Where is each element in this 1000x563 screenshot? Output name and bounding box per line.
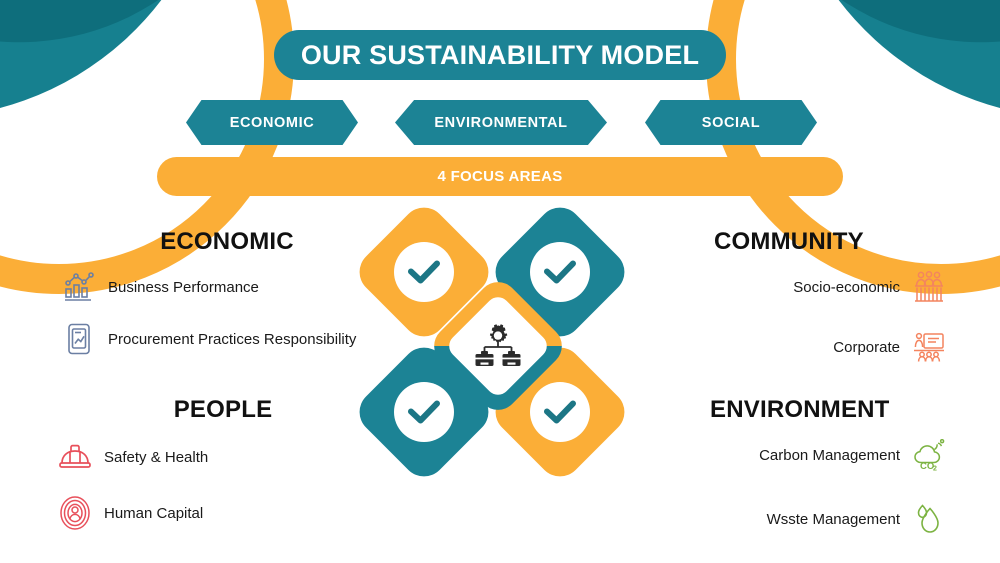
list-item[interactable]: Carbon Management CO 2	[700, 436, 946, 474]
quadrant-people: PEOPLE Safety & Health	[58, 396, 358, 550]
pillar-chevron-economic[interactable]: ECONOMIC	[186, 100, 358, 145]
bar-chart-growth-icon	[62, 268, 96, 306]
check-icon	[394, 242, 454, 302]
list-item[interactable]: Human Capital	[58, 494, 358, 532]
check-icon	[530, 382, 590, 442]
list-item-label: Safety & Health	[104, 449, 208, 466]
focus-areas-label: 4 FOCUS AREAS	[437, 168, 562, 185]
list-item[interactable]: Business Performance	[62, 268, 382, 306]
pillar-label: ENVIRONMENTAL	[434, 115, 567, 131]
svg-text:2: 2	[933, 466, 937, 472]
list-item[interactable]: Corporate	[700, 328, 946, 366]
list-item-label: Human Capital	[104, 505, 203, 522]
focus-areas-bar: 4 FOCUS AREAS	[157, 157, 843, 196]
check-icon	[530, 242, 590, 302]
quadrant-heading-environment: ENVIRONMENT	[710, 396, 946, 424]
list-item-label: Socio-economic	[793, 279, 900, 296]
people-group-icon	[912, 268, 946, 306]
mobile-chart-icon	[62, 320, 96, 358]
page-title: OUR SUSTAINABILITY MODEL	[274, 30, 726, 80]
presentation-training-icon	[912, 328, 946, 366]
person-badge-icon	[58, 494, 92, 532]
check-icon	[394, 382, 454, 442]
quadrant-community: COMMUNITY Socio-economic Corporate	[700, 228, 946, 388]
page-title-text: OUR SUSTAINABILITY MODEL	[301, 40, 699, 71]
list-item-label: Procurement Practices Responsibility	[108, 331, 356, 348]
pillar-chevron-environmental[interactable]: ENVIRONMENTAL	[395, 100, 607, 145]
pillar-chevron-social[interactable]: SOCIAL	[645, 100, 817, 145]
corner-decoration-top-left-teal	[0, 0, 214, 182]
quadrant-heading-community: COMMUNITY	[714, 228, 946, 256]
list-item[interactable]: Socio-economic	[700, 268, 946, 306]
list-item-label: Wsste Management	[767, 511, 900, 528]
quadrant-environment: ENVIRONMENT Carbon Management CO 2 Wsste…	[700, 396, 946, 563]
sustainability-model-slide: OUR SUSTAINABILITY MODEL ECONOMIC ENVIRO…	[0, 0, 1000, 563]
list-item-label: Corporate	[833, 339, 900, 356]
list-item[interactable]: Safety & Health	[58, 438, 358, 476]
quadrant-economic: ECONOMIC Business Performance	[62, 228, 382, 372]
list-item[interactable]: Wsste Management	[700, 500, 946, 538]
corner-decoration-top-right-teal	[786, 0, 1000, 182]
list-item-label: Business Performance	[108, 279, 259, 296]
water-drop-icon	[912, 500, 946, 538]
gear-briefcases-icon	[472, 323, 524, 369]
list-item-label: Carbon Management	[759, 447, 900, 464]
quadrant-heading-people: PEOPLE	[88, 396, 358, 424]
hard-hat-icon	[58, 438, 92, 476]
pillar-label: ECONOMIC	[230, 115, 315, 131]
list-item[interactable]: Procurement Practices Responsibility	[62, 320, 382, 358]
quadrant-heading-economic: ECONOMIC	[72, 228, 382, 256]
center-diagram	[350, 212, 650, 518]
pillar-label: SOCIAL	[702, 115, 760, 131]
co2-cloud-icon: CO 2	[912, 436, 946, 474]
